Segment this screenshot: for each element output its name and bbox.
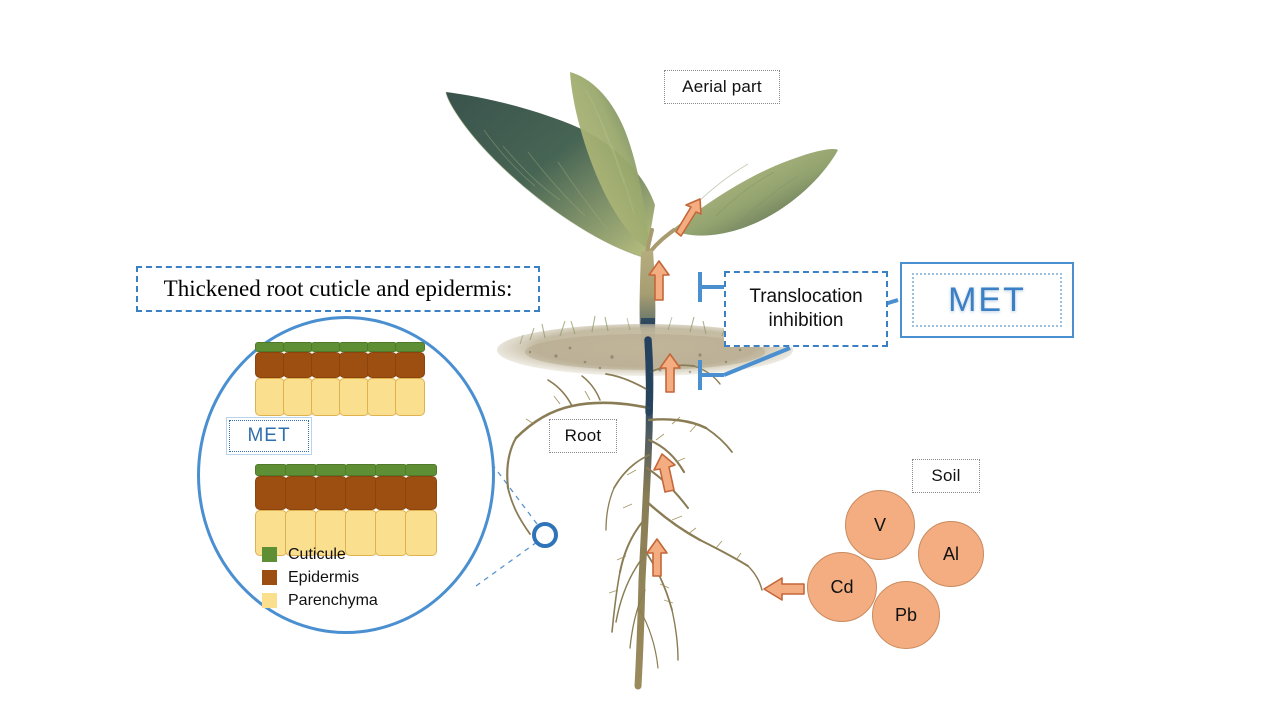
met-label-small: MET [229, 420, 309, 452]
legend-label: Parenchyma [288, 592, 378, 610]
page-title: Thickened root cuticle and epidermis: [136, 266, 540, 312]
legend-item-parenchyma: Parenchyma [262, 589, 378, 612]
legend-item-epidermis: Epidermis [262, 566, 378, 589]
met-text: MET [912, 273, 1062, 327]
cuticule-row-normal [256, 342, 424, 352]
label-root: Root [549, 419, 617, 453]
arrow-leaf [676, 199, 701, 236]
metal-circle-pb: Pb [872, 581, 940, 649]
legend-label: Cuticule [288, 546, 346, 564]
label-translocation-inhibition: Translocation inhibition [724, 271, 888, 347]
legend-item-cuticule: Cuticule [262, 543, 378, 566]
plant-illustration [0, 0, 1280, 720]
met-label-big: MET [900, 262, 1074, 338]
arrow-root-upper [654, 454, 675, 492]
epidermis-row-thickened [256, 476, 436, 510]
label-soil: Soil [912, 459, 980, 493]
legend-label: Epidermis [288, 569, 359, 587]
cuticule-swatch [262, 547, 277, 562]
diagram-canvas: Thickened root cuticle and epidermis: [0, 0, 1280, 720]
cell-stack-normal [256, 342, 424, 416]
translocation-line-1: Translocation [749, 285, 862, 309]
arrow-stem [649, 261, 669, 300]
inhibition-symbol-soil [700, 348, 790, 390]
arrow-metal-to-root [764, 578, 804, 600]
annotation-overlay [0, 0, 1280, 720]
epidermis-row-normal [256, 352, 424, 378]
parenchyma-row-normal [256, 378, 424, 416]
metal-circle-al: Al [918, 521, 984, 587]
parenchyma-swatch [262, 593, 277, 608]
metal-circle-cd: Cd [807, 552, 877, 622]
legend: Cuticule Epidermis Parenchyma [262, 543, 378, 612]
cuticule-row-thickened [256, 464, 436, 476]
uptake-arrows [647, 199, 804, 600]
arrow-soil [660, 354, 680, 392]
translocation-line-2: inhibition [769, 309, 844, 333]
label-aerial-part: Aerial part [664, 70, 780, 104]
epidermis-swatch [262, 570, 277, 585]
arrow-root-lower [647, 539, 667, 576]
metal-circle-v: V [845, 490, 915, 560]
root-zoom-marker [534, 524, 556, 546]
